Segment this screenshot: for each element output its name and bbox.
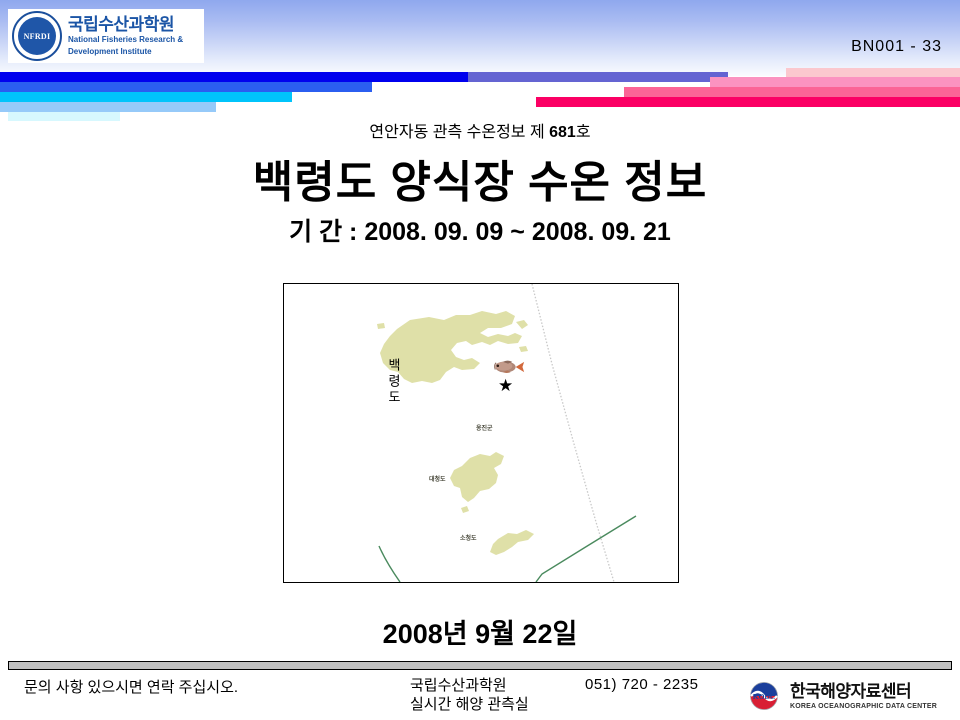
nfrdi-english-line-2: Development Institute	[68, 47, 183, 56]
document-code: BN001 - 33	[851, 38, 942, 56]
kodc-korean-name: 한국해양자료센터	[790, 683, 937, 700]
band-deep-blue	[0, 72, 468, 82]
footer-org-line-1: 국립수산과학원	[410, 676, 529, 695]
kodc-logo-text: 한국해양자료센터 KOREA OCEANOGRAPHIC DATA CENTER	[790, 683, 937, 710]
footer-divider-bar	[8, 661, 952, 670]
observation-period: 기 간 : 2008. 09. 09 ~ 2008. 09. 21	[0, 212, 960, 248]
series-prefix: 연안자동 관측 수온정보 제	[369, 124, 549, 141]
islet-west	[377, 323, 385, 329]
islet-east	[519, 346, 528, 352]
footer-phone-number: 051) 720 - 2235	[585, 676, 698, 693]
series-subtitle: 연안자동 관측 수온정보 제 681호	[0, 118, 960, 142]
nfrdi-english-line-1: National Fisheries Research &	[68, 35, 183, 44]
location-map: 백령도 ★ 옹진군 대청도 소청도	[283, 283, 679, 583]
band-pink-mid	[624, 87, 960, 97]
series-suffix: 호	[576, 124, 591, 141]
kodc-mark-text: KODC	[753, 692, 776, 701]
kodc-english-name: KOREA OCEANOGRAPHIC DATA CENTER	[790, 703, 937, 710]
issue-date: 2008년 9월 22일	[0, 612, 960, 651]
map-label-ongjin: 옹진군	[476, 423, 493, 432]
boundary-line-southeast	[536, 516, 636, 582]
nfrdi-logo-text: 국립수산과학원 National Fisheries Research & De…	[68, 16, 183, 56]
footer-org-line-2: 실시간 해양 관측실	[410, 695, 529, 714]
islet-daecheong-south	[461, 506, 469, 513]
nfrdi-seal-icon: NFRDI	[12, 11, 62, 61]
band-pink-light	[710, 77, 960, 87]
nfrdi-korean-name: 국립수산과학원	[68, 16, 183, 33]
station-star-marker: ★	[498, 377, 513, 394]
band-sky-blue	[0, 102, 216, 112]
island-socheongdo	[490, 530, 534, 555]
slide-canvas: NFRDI 국립수산과학원 National Fisheries Researc…	[0, 0, 960, 720]
footer-contact-note: 문의 사항 있으시면 연락 주십시오.	[24, 676, 238, 697]
station-name-vertical: 백령도	[387, 358, 400, 406]
footer-organization: 국립수산과학원 실시간 해양 관측실	[410, 676, 529, 714]
island-daecheongdo	[450, 452, 504, 502]
islet-north-east	[516, 320, 528, 329]
band-pink-pale	[786, 68, 960, 77]
band-periwinkle	[468, 72, 728, 82]
band-magenta	[536, 97, 960, 107]
nfrdi-logo: NFRDI 국립수산과학원 National Fisheries Researc…	[8, 9, 204, 63]
map-label-socheongdo: 소청도	[460, 533, 477, 542]
map-label-daecheongdo: 대청도	[429, 474, 446, 483]
map-graphic	[284, 284, 678, 582]
band-royal-blue	[0, 82, 372, 92]
fish-icon	[491, 358, 525, 376]
nfrdi-seal-label: NFRDI	[24, 32, 51, 41]
kodc-logo: KODC 한국해양자료센터 KOREA OCEANOGRAPHIC DATA C…	[744, 678, 954, 714]
series-issue-number: 681	[549, 124, 576, 141]
kodc-globe-icon: KODC	[744, 681, 784, 711]
band-cyan	[0, 92, 292, 102]
page-title: 백령도 양식장 수온 정보	[0, 146, 960, 210]
boundary-line-southwest	[379, 546, 400, 582]
